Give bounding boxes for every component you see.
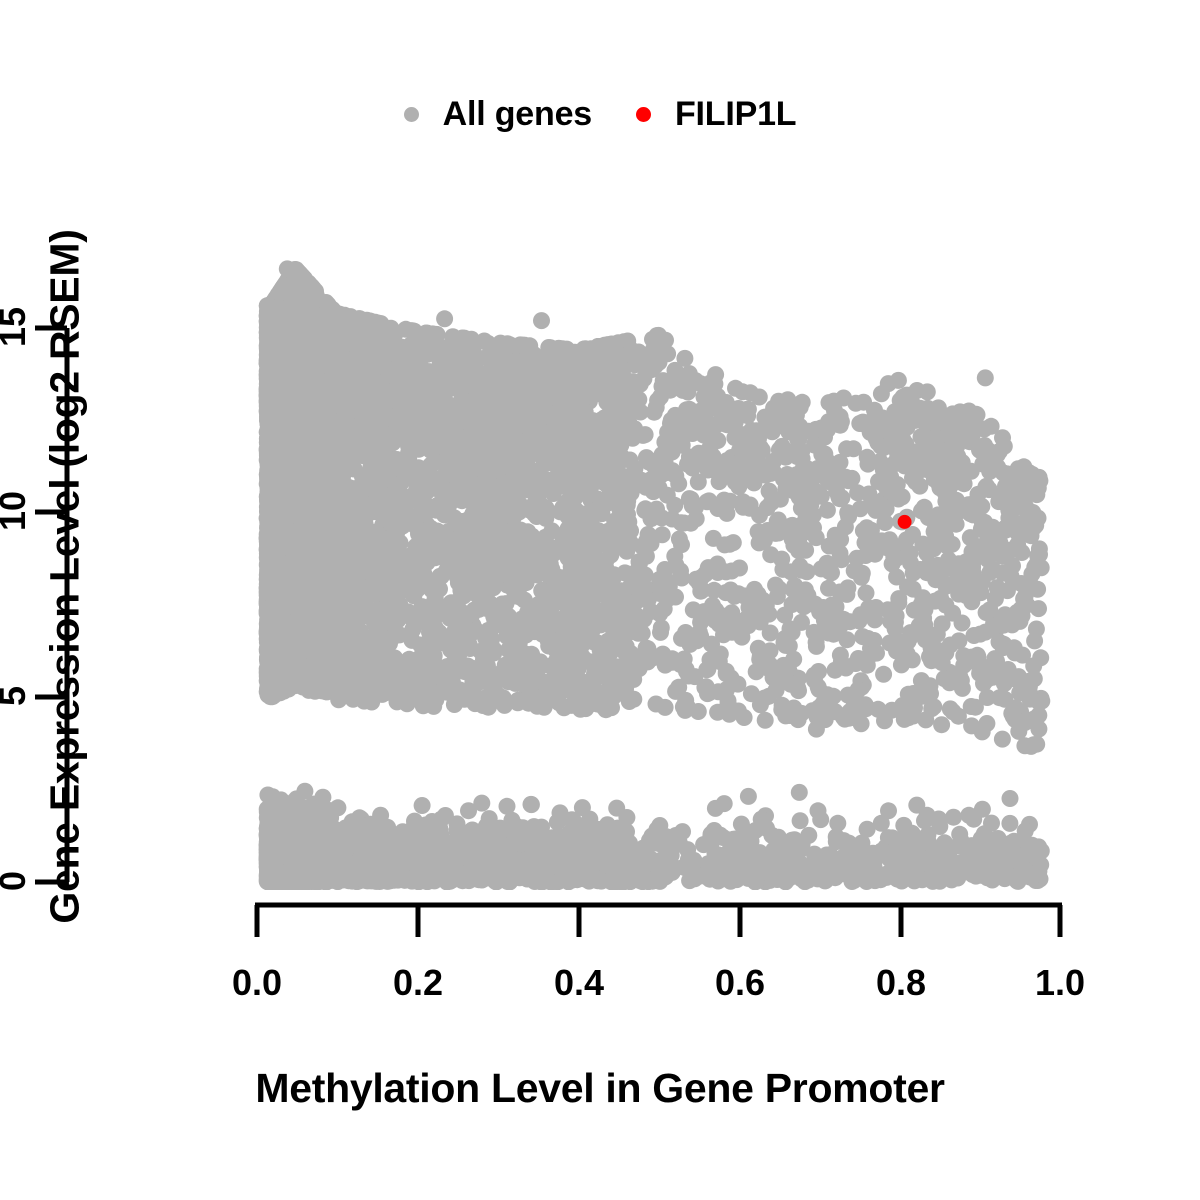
x-tick-label-0-2: 0.2 bbox=[368, 962, 468, 1004]
legend-marker-red-dot bbox=[636, 107, 651, 122]
series-all-genes bbox=[259, 260, 1051, 890]
y-tick-label-10: 10 bbox=[0, 471, 34, 551]
scatter-points-layer bbox=[255, 230, 1062, 890]
scatter-plot-figure: All genes FILIP1L 15 10 5 0 bbox=[0, 0, 1200, 1200]
x-tick-label-0-8: 0.8 bbox=[851, 962, 951, 1004]
x-tick-label-1-0: 1.0 bbox=[1010, 962, 1110, 1004]
series-filip1l[interactable] bbox=[898, 515, 912, 529]
x-axis-title: Methylation Level in Gene Promoter bbox=[0, 1065, 1200, 1112]
y-tick-label-0: 0 bbox=[0, 858, 34, 904]
plot-area bbox=[255, 230, 1062, 890]
y-tick-label-15: 15 bbox=[0, 287, 34, 367]
legend-entry-filip1l[interactable]: FILIP1L bbox=[636, 95, 796, 134]
x-tick-label-0-6: 0.6 bbox=[690, 962, 790, 1004]
legend-label-all-genes: All genes bbox=[443, 95, 592, 134]
highlighted-point-filip1l[interactable] bbox=[898, 515, 912, 529]
x-tick-label-0-4: 0.4 bbox=[529, 962, 629, 1004]
legend-marker-grey-dot bbox=[404, 107, 419, 122]
x-axis-line bbox=[0, 900, 1200, 960]
x-tick-label-0-0: 0.0 bbox=[207, 962, 307, 1004]
x-axis: 0.0 0.2 0.4 0.6 0.8 1.0 bbox=[0, 900, 1200, 960]
y-tick-label-5: 5 bbox=[0, 673, 34, 719]
chart-legend: All genes FILIP1L bbox=[0, 86, 1200, 142]
legend-entry-all-genes[interactable]: All genes bbox=[404, 95, 592, 134]
y-axis-title: Gene Expression Level (log2 RSEM) bbox=[42, 177, 89, 977]
legend-label-filip1l: FILIP1L bbox=[675, 95, 796, 134]
